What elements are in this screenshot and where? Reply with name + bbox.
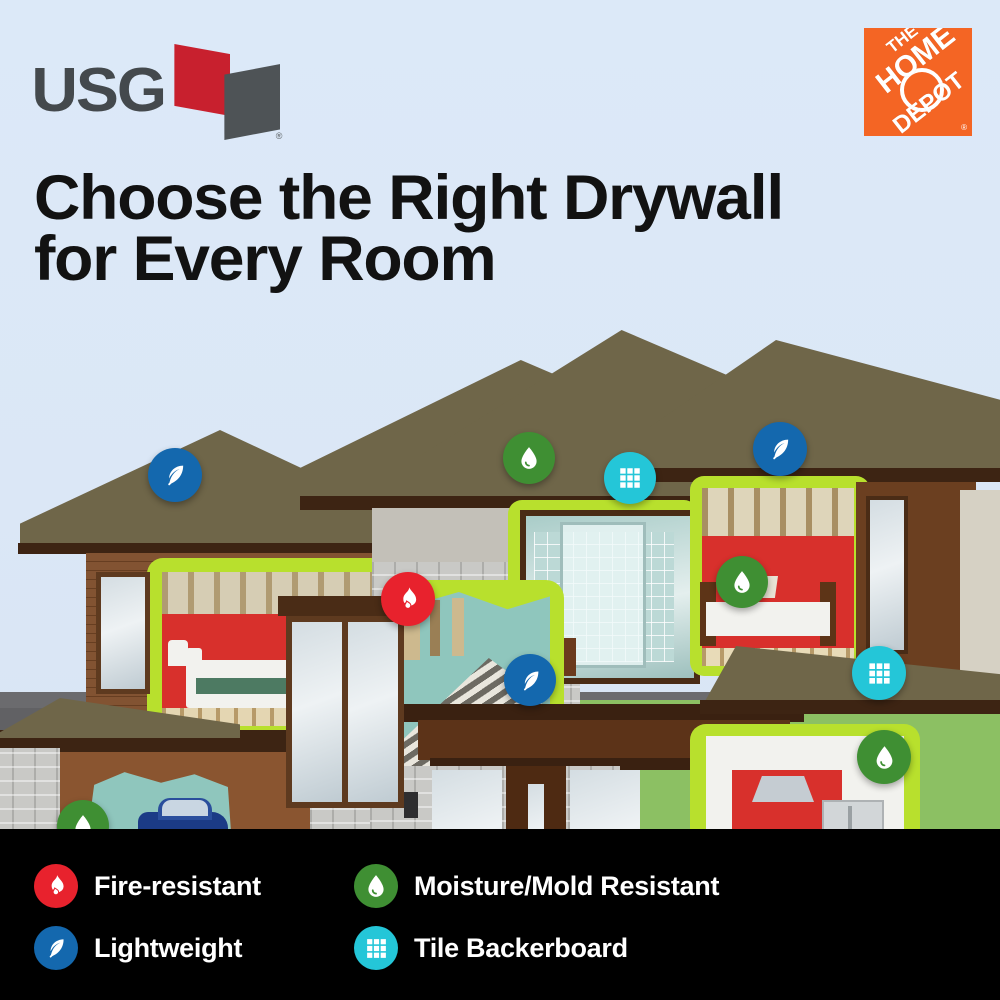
roof-right xyxy=(650,340,1000,480)
feather-icon xyxy=(766,435,794,463)
entry-sconce xyxy=(404,792,418,818)
badge-bedroom-right-lightweight[interactable] xyxy=(753,422,807,476)
house-illustration xyxy=(0,300,1000,838)
roof-right-lower-fascia xyxy=(700,700,1000,714)
badge-laundry-moisture[interactable] xyxy=(857,730,911,784)
tile-grid-icon xyxy=(866,660,893,687)
bedroom-left-lamp-left xyxy=(168,640,188,666)
legend-grid: Fire-resistant Moisture/Mold Resistant xyxy=(34,855,964,979)
badge-bathroom-moisture[interactable] xyxy=(503,432,555,484)
badge-kitchen-moisture[interactable] xyxy=(716,556,768,608)
feather-icon xyxy=(517,667,544,694)
legend-item-tile: Tile Backerboard xyxy=(354,917,964,979)
flame-icon xyxy=(34,864,78,908)
usg-logo-mark: ® xyxy=(172,42,280,140)
bay-window-right xyxy=(342,616,404,808)
bedroom-right-framing xyxy=(702,488,854,536)
usg-wordmark: USG xyxy=(31,60,164,122)
feather-icon xyxy=(34,926,78,970)
page-title: Choose the Right Drywall for Every Room xyxy=(34,168,881,290)
flame-icon xyxy=(394,585,422,613)
home-depot-logo: THE HOME DEPOT ® xyxy=(864,28,972,136)
badge-bathroom-tile[interactable] xyxy=(604,452,656,504)
badge-entry-lightweight[interactable] xyxy=(504,654,556,706)
entry-sidelight-left xyxy=(432,770,502,838)
bedroom-right-bed xyxy=(706,602,830,636)
tile-grid-icon xyxy=(354,926,398,970)
stairwell-stud-3 xyxy=(452,598,464,656)
droplet-icon xyxy=(729,569,755,595)
droplet-icon xyxy=(871,744,898,771)
feather-icon xyxy=(161,461,189,489)
tile-grid-icon xyxy=(617,465,643,491)
entry-sidelight-right xyxy=(570,770,640,838)
bay-window-left xyxy=(286,616,348,808)
home-depot-logo-inner: THE HOME DEPOT ® xyxy=(864,28,972,136)
legend-label-tile: Tile Backerboard xyxy=(414,933,628,964)
usg-registered-mark: ® xyxy=(276,131,283,141)
badge-bedroom-left-lightweight[interactable] xyxy=(148,448,202,502)
bay-window-cap xyxy=(278,596,398,616)
garage-pier-left xyxy=(0,748,60,838)
badge-laundry-tile[interactable] xyxy=(852,646,906,700)
droplet-icon xyxy=(354,864,398,908)
legend-item-fire: Fire-resistant xyxy=(34,855,354,917)
usg-logo: USG ® xyxy=(34,46,280,136)
badge-stairwell-fire[interactable] xyxy=(381,572,435,626)
window-right-upper-1 xyxy=(866,496,908,654)
kitchen-range-hood xyxy=(752,776,814,802)
legend-label-moisture: Moisture/Mold Resistant xyxy=(414,871,719,902)
legend-bar: Fire-resistant Moisture/Mold Resistant xyxy=(0,829,1000,1000)
usg-red-panel-icon xyxy=(174,44,230,116)
legend-label-lightweight: Lightweight xyxy=(94,933,242,964)
home-depot-registered-mark: ® xyxy=(961,123,967,132)
infographic-canvas: USG ® THE HOME DEPOT ® Choose the Right … xyxy=(0,0,1000,1000)
headline-line-1: Choose the Right Drywall xyxy=(34,168,881,229)
legend-label-fire: Fire-resistant xyxy=(94,871,261,902)
droplet-icon xyxy=(516,445,542,471)
garage-car-windshield xyxy=(162,800,208,816)
legend-item-lightweight: Lightweight xyxy=(34,917,354,979)
headline-line-2: for Every Room xyxy=(34,229,881,290)
usg-gray-panel-icon xyxy=(224,64,280,140)
legend-item-moisture: Moisture/Mold Resistant xyxy=(354,855,964,917)
window-left-upper xyxy=(96,572,150,694)
wall-right-stucco xyxy=(960,490,1000,690)
